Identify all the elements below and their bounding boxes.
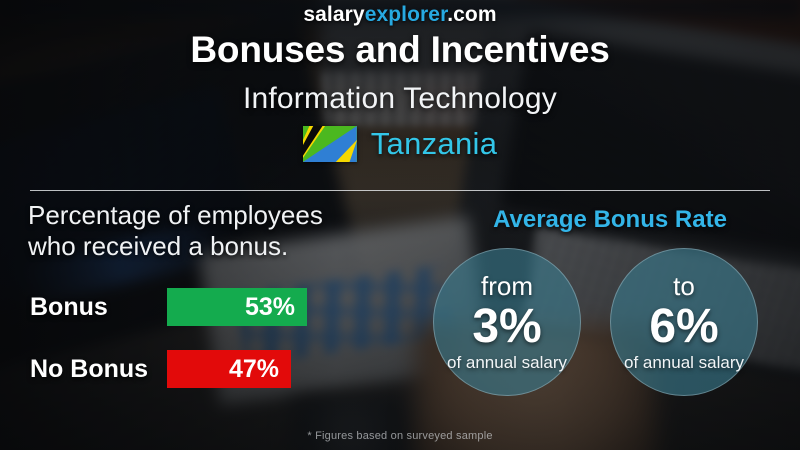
bonus-lead-line2: who received a bonus.	[28, 231, 323, 262]
circle-from-value: 3%	[472, 301, 541, 353]
bar-no-bonus: 47%	[167, 350, 291, 388]
footnote: * Figures based on surveyed sample	[0, 430, 800, 442]
circle-from-note: of annual salary	[447, 354, 567, 371]
page-subtitle: Information Technology	[0, 82, 800, 116]
bar-value-no-bonus: 47%	[229, 355, 279, 384]
country-row: Tanzania	[0, 126, 800, 162]
bar-value-bonus: 53%	[245, 293, 295, 322]
infographic-root: salaryexplorer.com Bonuses and Incentive…	[0, 0, 800, 450]
bonus-lead-text: Percentage of employees who received a b…	[28, 200, 323, 261]
tanzania-flag-icon	[303, 126, 357, 162]
bonus-rate-circle-from: from 3% of annual salary	[433, 248, 581, 396]
header-divider	[30, 190, 770, 191]
bar-row-bonus: Bonus 53%	[30, 288, 307, 326]
bar-label-bonus: Bonus	[30, 293, 167, 322]
bonus-lead-line1: Percentage of employees	[28, 200, 323, 231]
bar-row-no-bonus: No Bonus 47%	[30, 350, 291, 388]
bar-bonus: 53%	[167, 288, 307, 326]
circle-to-note: of annual salary	[624, 354, 744, 371]
bar-label-no-bonus: No Bonus	[30, 355, 167, 384]
country-name: Tanzania	[371, 126, 498, 162]
content-layer: salaryexplorer.com Bonuses and Incentive…	[0, 0, 800, 450]
brand-part-tld: .com	[447, 3, 496, 26]
circle-to-value: 6%	[649, 301, 718, 353]
brand-part-salary: salary	[303, 3, 364, 26]
bonus-rate-circle-to: to 6% of annual salary	[610, 248, 758, 396]
average-bonus-rate-title: Average Bonus Rate	[440, 206, 780, 234]
brand-wordmark[interactable]: salaryexplorer.com	[0, 3, 800, 27]
circle-to-label: to	[673, 273, 695, 299]
brand-part-explorer: explorer	[365, 3, 448, 26]
page-title: Bonuses and Incentives	[0, 29, 800, 71]
circle-from-label: from	[481, 273, 533, 299]
